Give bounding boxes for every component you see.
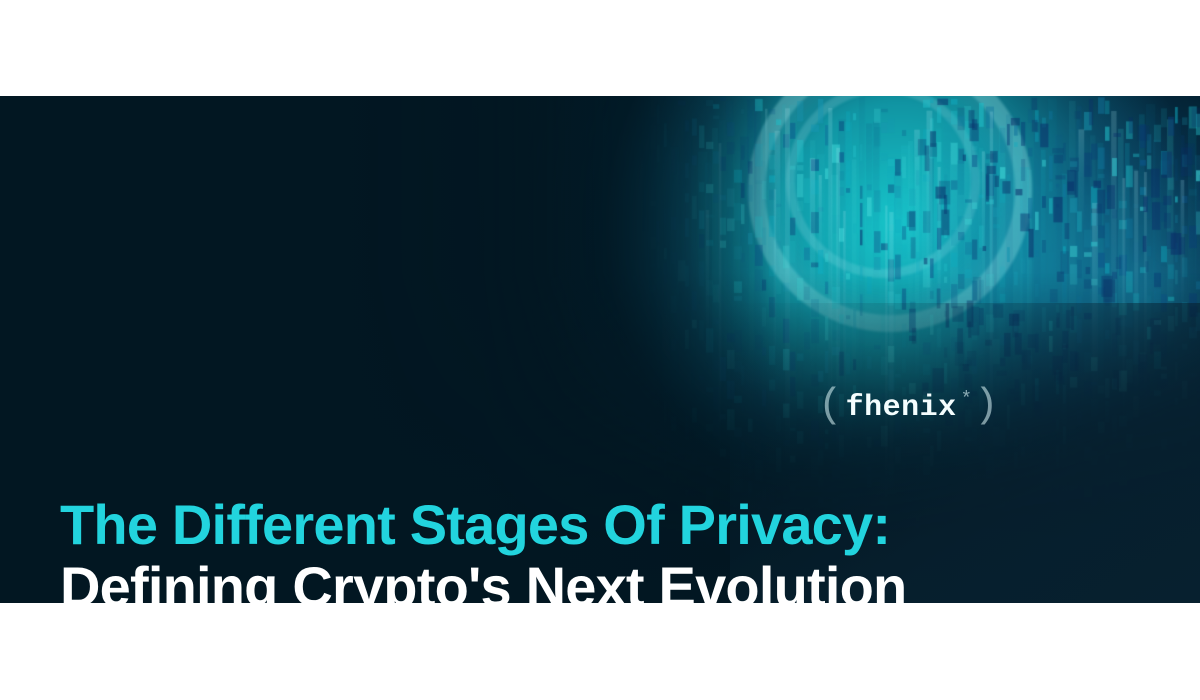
headline-line-2: Defining Crypto's Next Evolution: [60, 556, 1060, 603]
page-title: The Different Stages Of Privacy: Definin…: [60, 494, 1060, 603]
bracket-left-icon: (: [818, 386, 843, 430]
bracket-right-icon: ): [974, 386, 999, 430]
brand-logo: ( fhenix * ): [818, 386, 999, 430]
headline-line-1: The Different Stages Of Privacy:: [60, 494, 1060, 556]
page-root: ( fhenix * ) The Different Stages Of Pri…: [0, 0, 1200, 700]
asterisk-icon: *: [961, 388, 972, 410]
brand-name: fhenix: [846, 391, 957, 425]
hero-banner: ( fhenix * ) The Different Stages Of Pri…: [0, 96, 1200, 603]
